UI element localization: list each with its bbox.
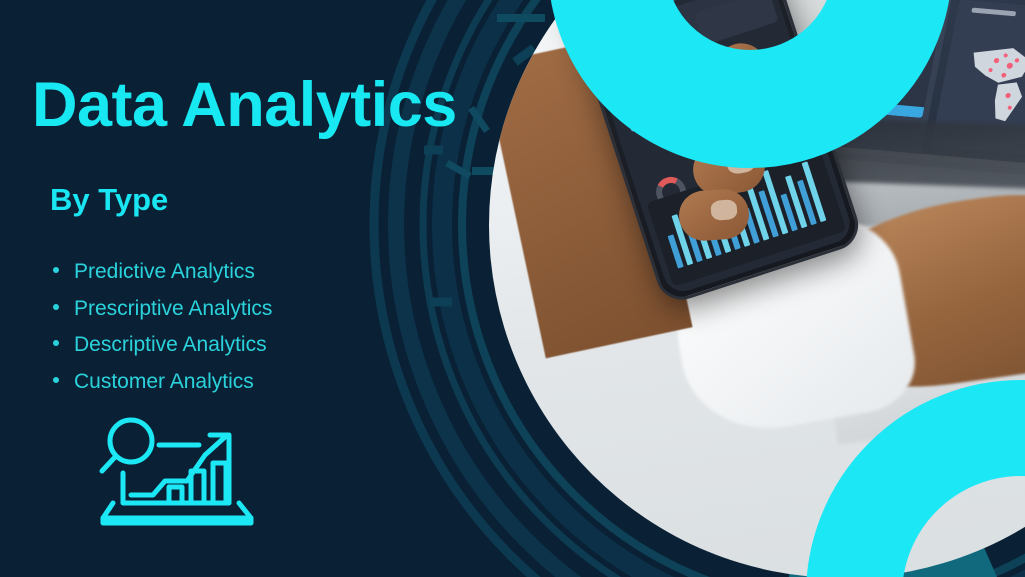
list-item: Predictive Analytics [48,258,272,286]
page-subtitle: By Type [50,182,168,218]
list-item: Descriptive Analytics [48,331,272,359]
list-item: Customer Analytics [48,368,272,396]
laptop-bar-chart-growth-magnifier-icon [95,415,261,531]
slide-canvas: Data Analytics By Type Predictive Analyt… [0,0,1025,577]
list-item: Prescriptive Analytics [48,295,272,323]
page-title: Data Analytics [32,74,457,137]
analytics-type-list: Predictive Analytics Prescriptive Analyt… [48,258,272,405]
